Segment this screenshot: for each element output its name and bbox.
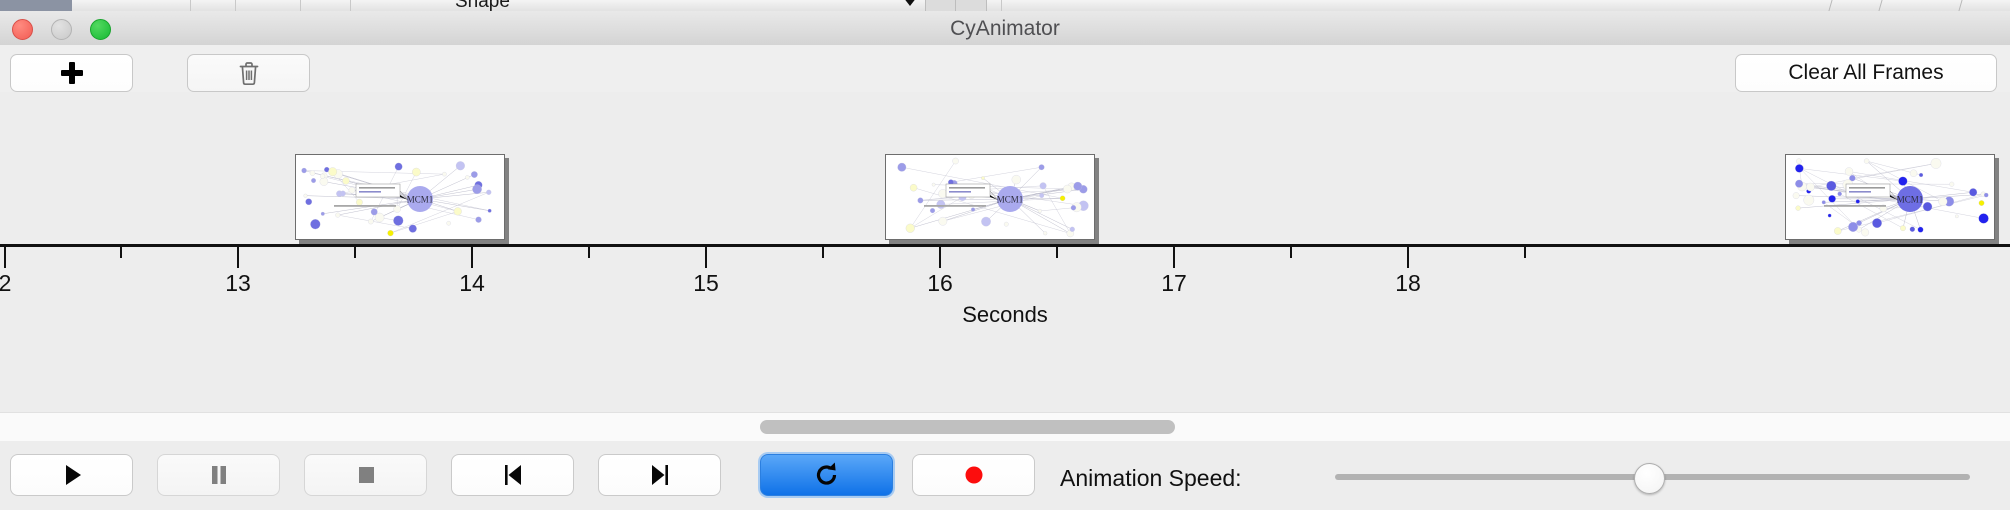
animation-speed-label: Animation Speed: xyxy=(1060,465,1242,492)
window-title: CyAnimator xyxy=(0,17,2010,41)
record-icon xyxy=(959,460,989,490)
play-button[interactable] xyxy=(10,454,133,496)
background-window-selection xyxy=(0,0,72,11)
animation-speed-slider-thumb[interactable] xyxy=(1634,463,1665,494)
axis-tick xyxy=(354,247,356,258)
background-window-cell xyxy=(150,0,191,11)
background-window-divider xyxy=(1828,0,1832,11)
trash-icon xyxy=(238,61,260,86)
toolbar: Clear All Frames xyxy=(0,45,2010,93)
background-window-sliver: Shape xyxy=(0,0,2010,11)
skip-previous-button[interactable] xyxy=(451,454,574,496)
add-frame-button[interactable] xyxy=(10,54,133,92)
delete-frame-button[interactable] xyxy=(187,54,310,92)
play-icon xyxy=(57,460,87,490)
axis-tick xyxy=(120,247,122,258)
axis-title: Seconds xyxy=(0,302,2010,328)
background-window-cell xyxy=(240,0,301,11)
clear-all-frames-label: Clear All Frames xyxy=(1788,61,1943,85)
skip-next-button[interactable] xyxy=(598,454,721,496)
svg-text:MCM1: MCM1 xyxy=(407,195,434,205)
timeline-panel[interactable]: MCM1MCM1MCM1 2131415161718 Seconds xyxy=(0,92,2010,412)
time-axis: 2131415161718 Seconds xyxy=(0,244,2010,354)
timeline-frame-thumbnail[interactable]: MCM1 xyxy=(885,154,1095,240)
title-bar[interactable]: CyAnimator xyxy=(0,11,2010,46)
stop-button[interactable] xyxy=(304,454,427,496)
pause-icon xyxy=(204,460,234,490)
stop-icon xyxy=(351,460,381,490)
axis-tick-label: 13 xyxy=(225,270,251,297)
timeline-frame-thumbnail[interactable]: MCM1 xyxy=(295,154,505,240)
axis-tick xyxy=(939,247,941,268)
record-button[interactable] xyxy=(912,454,1035,496)
svg-text:MCM1: MCM1 xyxy=(997,195,1024,205)
axis-tick xyxy=(237,247,239,268)
playback-control-bar: Animation Speed: xyxy=(0,441,2010,510)
timeline-frame-thumbnail[interactable]: MCM1 xyxy=(1785,154,1995,240)
axis-tick xyxy=(705,247,707,268)
plus-icon xyxy=(60,61,84,85)
axis-tick xyxy=(1056,247,1058,258)
axis-tick-label: 18 xyxy=(1395,270,1421,297)
axis-tick-label: 2 xyxy=(0,270,11,297)
svg-text:MCM1: MCM1 xyxy=(1897,195,1924,205)
pause-button[interactable] xyxy=(157,454,280,496)
loop-icon xyxy=(812,460,842,490)
axis-tick-label: 16 xyxy=(927,270,953,297)
axis-tick xyxy=(588,247,590,258)
axis-tick xyxy=(4,247,6,268)
axis-tick xyxy=(471,247,473,268)
skip-next-icon xyxy=(645,460,675,490)
axis-tick-label: 14 xyxy=(459,270,485,297)
axis-tick-label: 17 xyxy=(1161,270,1187,297)
axis-tick xyxy=(1407,247,1409,268)
background-window-cell xyxy=(300,0,351,11)
background-window-text: Shape xyxy=(455,0,510,11)
background-window-divider xyxy=(1958,0,1962,11)
clear-all-frames-button[interactable]: Clear All Frames xyxy=(1735,54,1997,92)
background-window-divider xyxy=(1878,0,1882,11)
axis-tick xyxy=(1290,247,1292,258)
cyanimator-window: Shape CyAnimator xyxy=(0,0,2010,510)
background-window-cell xyxy=(1000,0,1002,11)
axis-tick xyxy=(1524,247,1526,258)
background-window-cell xyxy=(190,0,236,11)
timeline-scrollbar-thumb[interactable] xyxy=(760,420,1175,434)
axis-tick-label: 15 xyxy=(693,270,719,297)
axis-line xyxy=(0,244,2010,247)
background-window-box xyxy=(925,0,957,11)
axis-tick xyxy=(1173,247,1175,268)
loop-button[interactable] xyxy=(760,454,893,496)
background-window-box xyxy=(955,0,987,11)
axis-tick xyxy=(822,247,824,258)
background-window-arrow-icon xyxy=(903,0,917,6)
timeline-scrollbar[interactable] xyxy=(0,412,2010,442)
skip-previous-icon xyxy=(498,460,528,490)
